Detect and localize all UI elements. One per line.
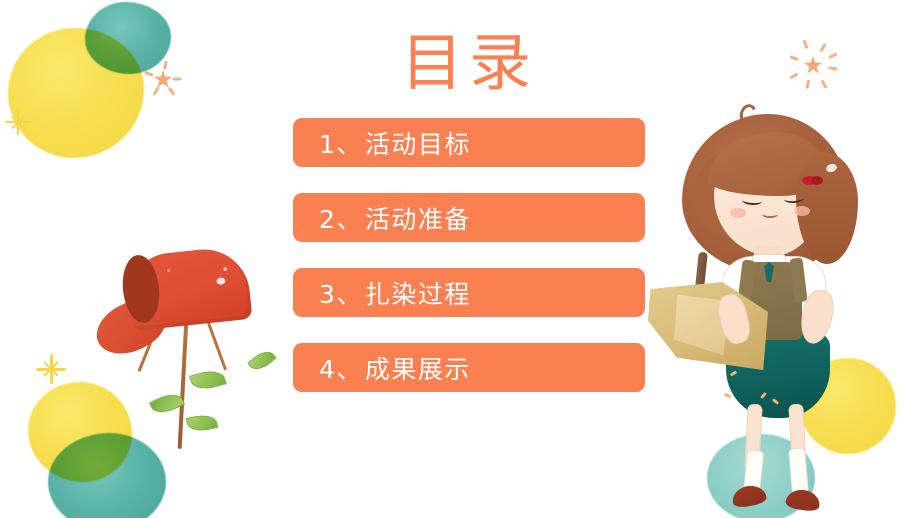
- confetti-flake: [724, 393, 732, 398]
- toc-item-2-label: 活动准备: [365, 200, 471, 236]
- hair-bow-icon: [811, 176, 823, 185]
- plant-branch-right: [207, 323, 226, 371]
- toc-item-4-number: 4、: [319, 350, 363, 386]
- sparkle-yellow-top-left-icon: [4, 108, 32, 136]
- slide-canvas: 目录 1、 活动目标 2、 活动准备 3、 扎染过程 4、 成果展示: [0, 0, 920, 518]
- sparkle-yellow-bottom-left-icon: [34, 352, 68, 386]
- girl-reading-scroll-illustration: [668, 104, 878, 500]
- table-of-contents: 目录 1、 活动目标 2、 活动准备 3、 扎染过程 4、 成果展示: [293, 32, 645, 392]
- star-burst-orange-top-left-icon: [146, 62, 180, 96]
- toc-item-3-number: 3、: [319, 275, 363, 311]
- mailbox-illustration: [95, 245, 275, 455]
- toc-item-4-label: 成果展示: [365, 350, 471, 386]
- toc-item-4[interactable]: 4、 成果展示: [293, 343, 645, 392]
- toc-item-2-number: 2、: [319, 200, 363, 236]
- plant-stem: [178, 319, 189, 449]
- toc-item-1-number: 1、: [319, 125, 363, 161]
- cheek-blush-right: [794, 206, 810, 216]
- toc-item-1-label: 活动目标: [365, 125, 471, 161]
- toc-item-3[interactable]: 3、 扎染过程: [293, 268, 645, 317]
- mouth: [762, 210, 778, 218]
- page-title: 目录: [293, 32, 645, 104]
- toc-item-3-label: 扎染过程: [365, 275, 471, 311]
- cheek-blush-left: [730, 208, 746, 218]
- toc-item-2[interactable]: 2、 活动准备: [293, 193, 645, 242]
- star-burst-orange-top-right-icon: [786, 38, 840, 92]
- toc-item-1[interactable]: 1、 活动目标: [293, 118, 645, 167]
- leaf-icon: [189, 367, 227, 394]
- leaf-icon: [186, 412, 219, 434]
- leaf-icon: [247, 346, 277, 374]
